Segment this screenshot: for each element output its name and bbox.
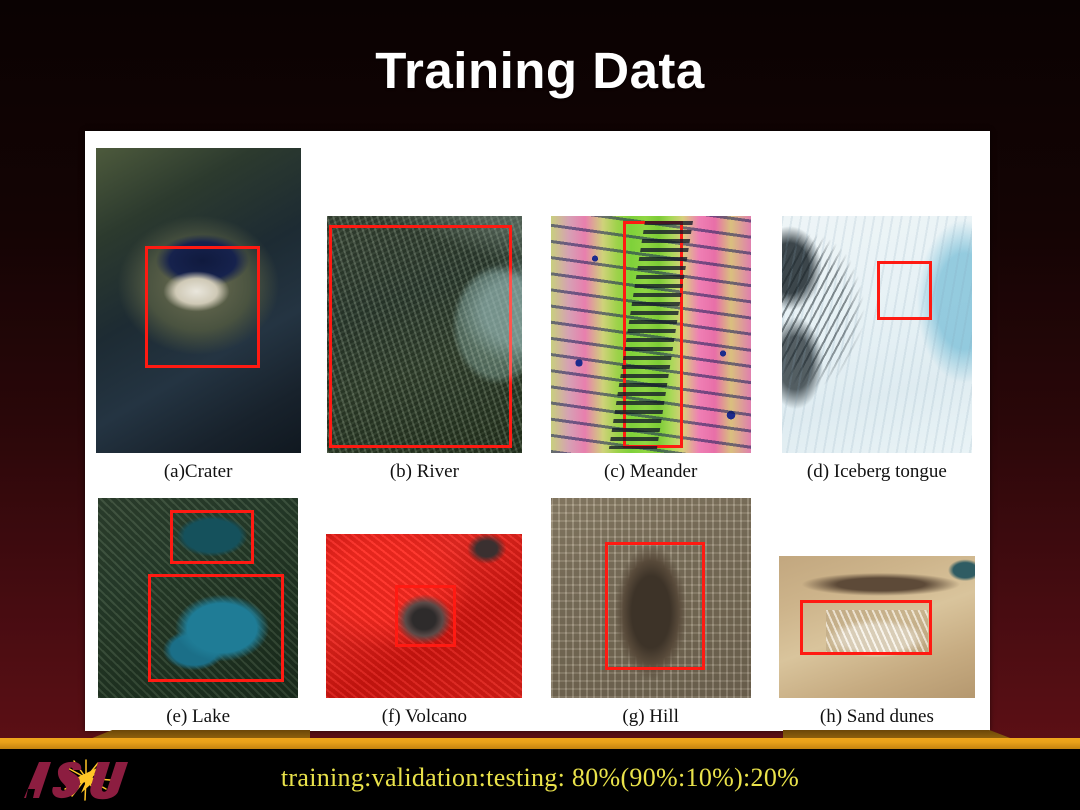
figure-caption: (b) River: [390, 461, 459, 483]
bounding-box: [170, 510, 254, 564]
lake-thumbnail: [98, 498, 298, 698]
figure-caption: (d) Iceberg tongue: [807, 461, 947, 483]
dunes-thumbnail: [779, 556, 975, 698]
figure-cell-dunes: (h) Sand dunes: [764, 483, 990, 728]
hill-thumbnail: [551, 498, 751, 698]
figure-caption: (a)Crater: [164, 461, 233, 483]
figure-cell-river: (b) River: [311, 143, 537, 483]
figure-cell-crater: (a)Crater: [85, 143, 311, 483]
figure-panel: (a)Crater (b) River (c) Meander (d) Iceb…: [85, 131, 990, 731]
river-thumbnail: [327, 216, 522, 453]
bounding-box: [148, 574, 284, 682]
bounding-box: [605, 542, 705, 670]
bounding-box: [329, 225, 512, 448]
asu-wordmark: [24, 762, 128, 799]
page-title: Training Data: [0, 44, 1080, 98]
figure-caption: (h) Sand dunes: [820, 706, 934, 728]
figure-caption: (g) Hill: [622, 706, 678, 728]
figure-cell-lake: (e) Lake: [85, 483, 311, 728]
crater-thumbnail: [96, 148, 301, 453]
bounding-box: [623, 221, 683, 449]
meander-thumbnail: [551, 216, 751, 453]
dataset-split-note: training:validation:testing: 80%(90%:10%…: [0, 763, 1080, 793]
figure-cell-iceberg: (d) Iceberg tongue: [764, 143, 990, 483]
slide-canvas: Training Data (a)Crater (b) River (c: [0, 0, 1080, 810]
figure-cell-hill: (g) Hill: [538, 483, 764, 728]
volcano-thumbnail: [326, 534, 522, 698]
gold-divider-bar: [0, 731, 1080, 749]
figure-caption: (e) Lake: [166, 706, 230, 728]
figure-cell-volcano: (f) Volcano: [311, 483, 537, 728]
figure-caption: (c) Meander: [604, 461, 697, 483]
figure-row-2: (e) Lake (f) Volcano (g) Hill (h) Sand d…: [85, 483, 990, 728]
bounding-box: [877, 261, 932, 320]
bounding-box: [145, 246, 260, 368]
figure-cell-meander: (c) Meander: [538, 143, 764, 483]
iceberg-thumbnail: [782, 216, 972, 453]
slide-footer: training:validation:testing: 80%(90%:10%…: [0, 749, 1080, 810]
gold-bar-base: [0, 738, 1080, 749]
bounding-box: [800, 600, 931, 655]
asu-logo: [22, 756, 138, 802]
figure-row-1: (a)Crater (b) River (c) Meander (d) Iceb…: [85, 143, 990, 483]
bounding-box: [395, 585, 456, 647]
figure-caption: (f) Volcano: [382, 706, 467, 728]
